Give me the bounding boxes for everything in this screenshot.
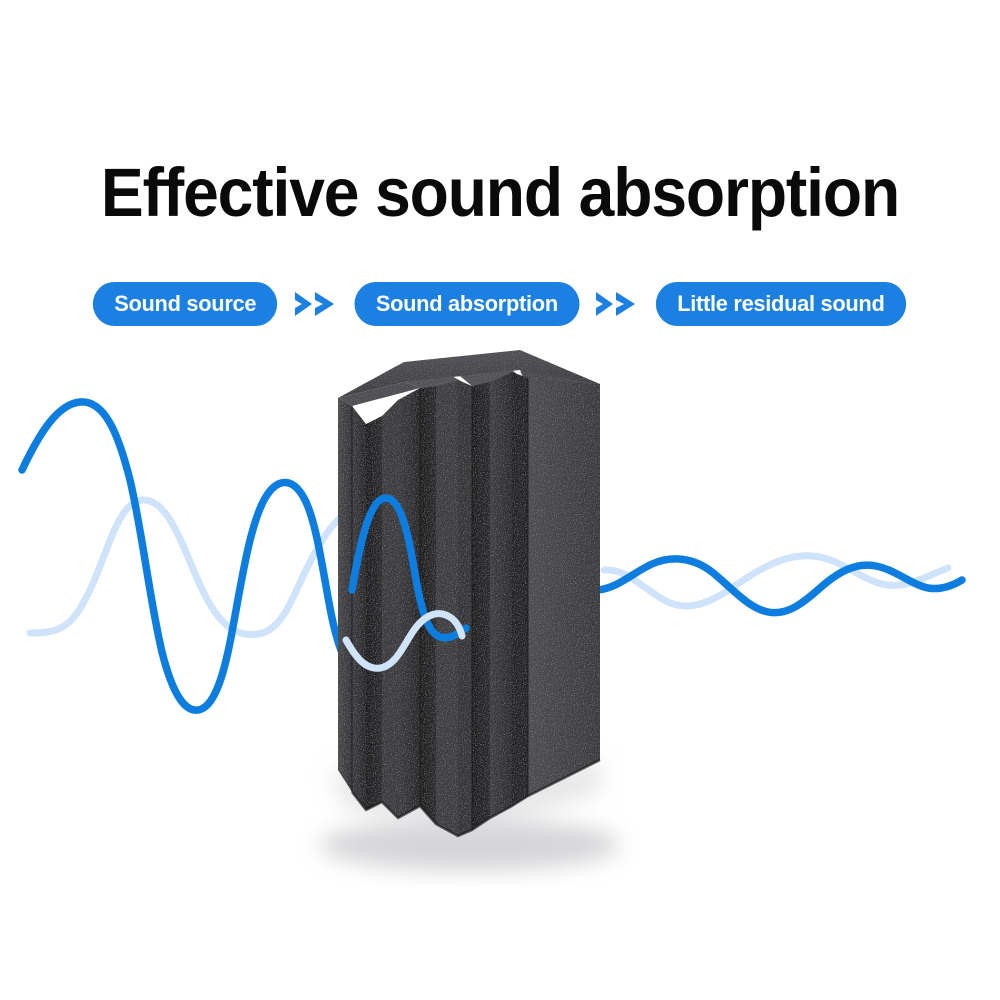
- double-chevron-right-icon: [293, 289, 339, 319]
- double-chevron-right-icon: [594, 289, 640, 319]
- step-label: Sound absorption: [375, 291, 557, 317]
- foam-valley-1: [366, 416, 382, 810]
- step-pill-little-residual-sound[interactable]: Little residual sound: [656, 282, 906, 326]
- foam-valley-4: [512, 372, 528, 806]
- step-label: Little residual sound: [677, 291, 884, 317]
- step-pill-sound-source[interactable]: Sound source: [93, 282, 278, 326]
- foam-rib-2: [382, 388, 420, 818]
- foam-rib-4: [490, 372, 512, 818]
- foam-valley-3: [472, 382, 490, 830]
- foam-rib-3: [436, 380, 472, 836]
- foam-right-face: [528, 378, 600, 796]
- step-pill-sound-absorption[interactable]: Sound absorption: [354, 282, 579, 326]
- step-label: Sound source: [114, 291, 256, 317]
- process-steps: Sound source Sound absorption Little res…: [0, 281, 1000, 327]
- acoustic-foam-bass-trap: [320, 350, 620, 871]
- page-title: Effective sound absorption: [35, 152, 965, 234]
- product-illustration: [0, 340, 1000, 1000]
- illustration-canvas: Effective sound absorption Sound source …: [0, 0, 1000, 1000]
